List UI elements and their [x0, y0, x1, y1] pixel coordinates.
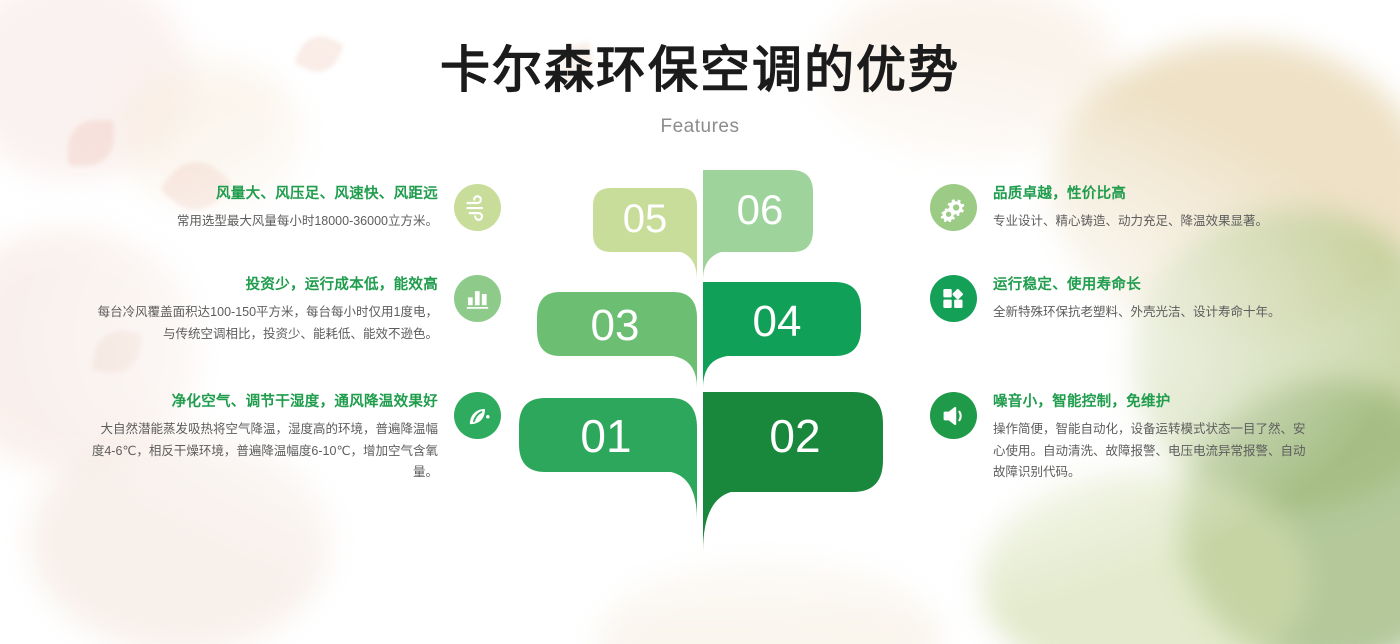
feature-item-03[interactable]: 投资少，运行成本低，能效高 每台冷风覆盖面积达100-150平方米，每台每小时仅… [90, 275, 501, 345]
feature-01-text: 净化空气、调节干湿度，通风降温效果好 大自然潜能蒸发吸热将空气降温，湿度高的环境… [90, 392, 438, 484]
wind-icon [454, 184, 501, 231]
bg-blob [600, 560, 940, 644]
feature-06-desc: 专业设计、精心铸造、动力充足、降温效果显著。 [993, 211, 1313, 233]
blocks-icon [930, 275, 977, 322]
features-content: 风量大、风压足、风速快、风距远 常用选型最大风量每小时18000-36000立方… [0, 170, 1400, 570]
gears-icon [930, 184, 977, 231]
feature-02-desc: 操作简便，智能自动化，设备运转模式状态一目了然、安心使用。自动清洗、故障报警、电… [993, 419, 1313, 484]
feature-05-title: 风量大、风压足、风速快、风距远 [90, 184, 438, 204]
feature-04-text: 运行稳定、使用寿命长 全新特殊环保抗老塑料、外壳光洁、设计寿命十年。 [993, 275, 1313, 324]
page-subtitle: Features [0, 98, 1400, 138]
feature-06-title: 品质卓越，性价比高 [993, 184, 1313, 204]
feature-item-01[interactable]: 净化空气、调节干湿度，通风降温效果好 大自然潜能蒸发吸热将空气降温，湿度高的环境… [90, 392, 501, 484]
page-title: 卡尔森环保空调的优势 [0, 0, 1400, 98]
feature-item-04[interactable]: 运行稳定、使用寿命长 全新特殊环保抗老塑料、外壳光洁、设计寿命十年。 [930, 275, 1313, 324]
feature-item-05[interactable]: 风量大、风压足、风速快、风距远 常用选型最大风量每小时18000-36000立方… [90, 184, 501, 233]
feature-06-text: 品质卓越，性价比高 专业设计、精心铸造、动力充足、降温效果显著。 [993, 184, 1313, 233]
feature-03-text: 投资少，运行成本低，能效高 每台冷风覆盖面积达100-150平方米，每台每小时仅… [90, 275, 438, 345]
feature-04-desc: 全新特殊环保抗老塑料、外壳光洁、设计寿命十年。 [993, 302, 1313, 324]
feature-01-title: 净化空气、调节干湿度，通风降温效果好 [90, 392, 438, 412]
feature-05-desc: 常用选型最大风量每小时18000-36000立方米。 [90, 211, 438, 233]
feature-05-text: 风量大、风压足、风速快、风距远 常用选型最大风量每小时18000-36000立方… [90, 184, 438, 233]
speaker-icon [930, 392, 977, 439]
feature-item-02[interactable]: 噪音小，智能控制，免维护 操作简便，智能自动化，设备运转模式状态一目了然、安心使… [930, 392, 1313, 484]
feature-item-06[interactable]: 品质卓越，性价比高 专业设计、精心铸造、动力充足、降温效果显著。 [930, 184, 1313, 233]
feature-04-title: 运行稳定、使用寿命长 [993, 275, 1313, 295]
feature-03-title: 投资少，运行成本低，能效高 [90, 275, 438, 295]
header: 卡尔森环保空调的优势 Features [0, 0, 1400, 138]
feature-02-text: 噪音小，智能控制，免维护 操作简便，智能自动化，设备运转模式状态一目了然、安心使… [993, 392, 1313, 484]
feature-02-title: 噪音小，智能控制，免维护 [993, 392, 1313, 412]
feature-03-desc: 每台冷风覆盖面积达100-150平方米，每台每小时仅用1度电，与传统空调相比，投… [90, 302, 438, 345]
bar-chart-icon [454, 275, 501, 322]
feature-01-desc: 大自然潜能蒸发吸热将空气降温，湿度高的环境，普遍降温幅度4-6℃，相反干燥环境，… [90, 419, 438, 484]
eco-leaf-icon [454, 392, 501, 439]
